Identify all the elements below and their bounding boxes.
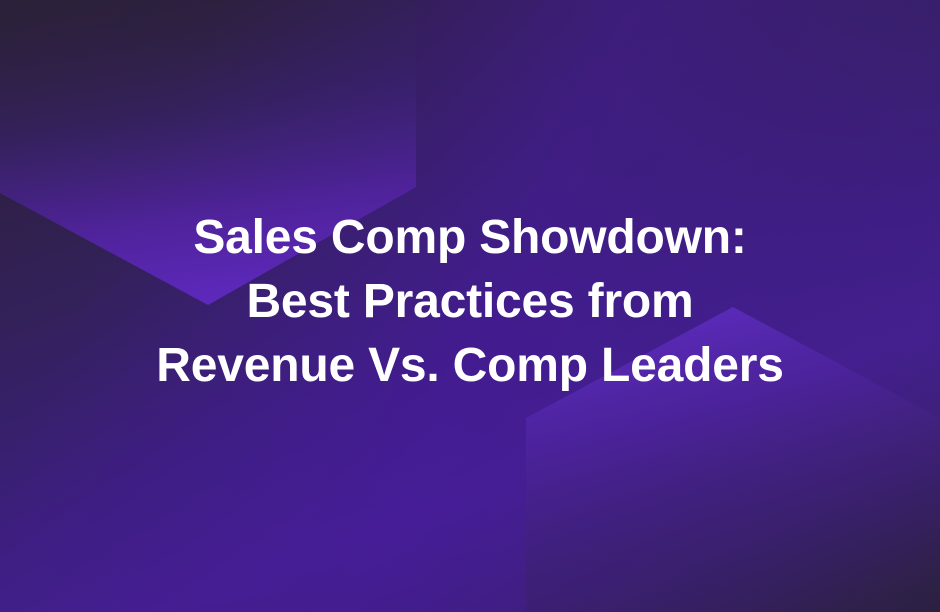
headline-block: Sales Comp Showdown: Best Practices from… <box>0 206 940 398</box>
headline-line-2: Best Practices from <box>0 270 940 334</box>
promo-banner: Sales Comp Showdown: Best Practices from… <box>0 0 940 612</box>
headline-line-1: Sales Comp Showdown: <box>0 206 940 270</box>
headline-line-3: Revenue Vs. Comp Leaders <box>0 334 940 398</box>
